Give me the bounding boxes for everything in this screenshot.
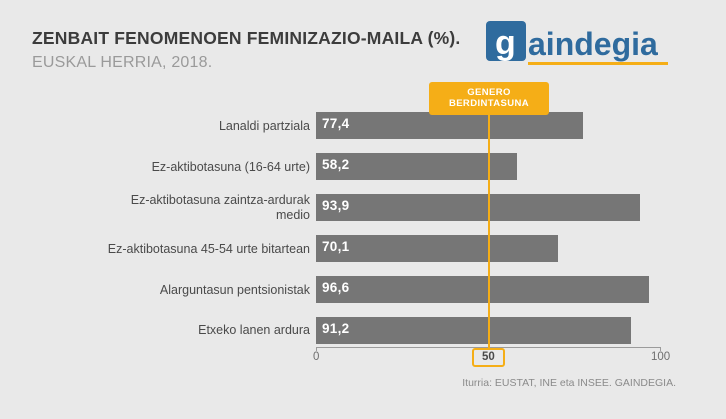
logo-letter-g: g (495, 24, 516, 62)
badge-line-1: GENERO (439, 87, 539, 98)
reference-value-label: 50 (472, 348, 505, 367)
logo-wordmark: aindegia (528, 26, 658, 62)
logo-underline (528, 62, 668, 65)
bar-value-label: 96,6 (322, 280, 349, 295)
page-subtitle: EUSKAL HERRIA, 2018. (32, 54, 212, 72)
bar-lanaldi-partziala[interactable]: 77,4 (316, 112, 583, 139)
badge-line-2: BERDINTASUNA (439, 98, 539, 109)
gender-equality-reference-line (488, 109, 490, 353)
category-label: Ez-aktibotasuna zaintza-ardurak medio (20, 193, 310, 223)
bar-alarguntasun-pentsionistak[interactable]: 96,6 (316, 276, 649, 303)
x-axis-tick-label-0: 0 (313, 351, 319, 363)
bar-chart: Lanaldi partziala Ez-aktibotasuna (16-64… (0, 85, 726, 375)
bar-value-label: 58,2 (322, 157, 349, 172)
bar-value-label: 77,4 (322, 116, 349, 131)
gender-equality-badge: GENERO BERDINTASUNA (429, 82, 549, 115)
chart-page: ZENBAIT FENOMENOEN FEMINIZAZIO-MAILA (%)… (0, 0, 726, 419)
category-label: Lanaldi partziala (20, 119, 310, 134)
x-axis-tick-label-100: 100 (651, 351, 670, 363)
bar-ez-aktibotasuna-zaintza[interactable]: 93,9 (316, 194, 640, 221)
bar-ez-aktibotasuna-45-54[interactable]: 70,1 (316, 235, 558, 262)
category-labels: Lanaldi partziala Ez-aktibotasuna (16-64… (10, 85, 310, 375)
category-label: Ez-aktibotasuna 45-54 urte bitartean (20, 242, 310, 257)
bar-etxeko-lanen-ardura[interactable]: 91,2 (316, 317, 631, 344)
category-label: Etxeko lanen ardura (20, 323, 310, 338)
category-label: Ez-aktibotasuna (16-64 urte) (20, 160, 310, 175)
category-label: Alarguntasun pentsionistak (20, 283, 310, 298)
gaindegia-logo: g aindegia (486, 21, 676, 69)
bar-ez-aktibotasuna-16-64[interactable]: 58,2 (316, 153, 517, 180)
page-title: ZENBAIT FENOMENOEN FEMINIZAZIO-MAILA (%)… (32, 28, 461, 49)
bar-value-label: 93,9 (322, 198, 349, 213)
source-note: Iturria: EUSTAT, INE eta INSEE. GAINDEGI… (462, 377, 676, 389)
bar-value-label: 70,1 (322, 239, 349, 254)
bar-value-label: 91,2 (322, 321, 349, 336)
